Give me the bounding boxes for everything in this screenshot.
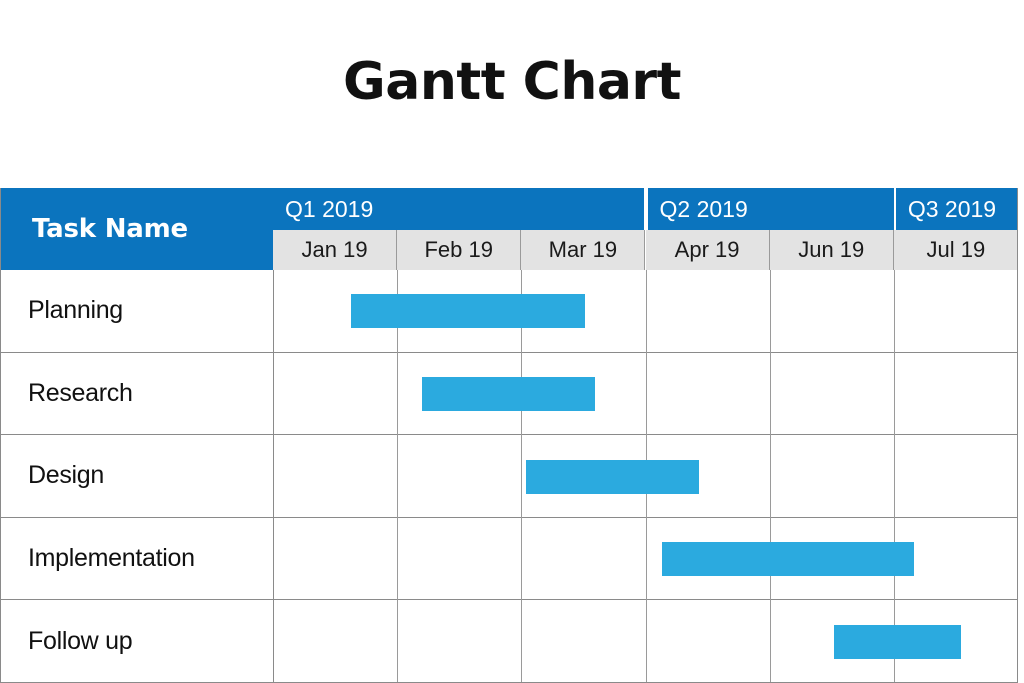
grid-line-vertical (521, 270, 522, 683)
table-row[interactable]: Design (0, 435, 1018, 518)
grid-line-vertical (273, 270, 274, 683)
task-label-design: Design (0, 435, 273, 517)
month-header-cell: Jan 19 (273, 230, 397, 270)
table-border-right (1017, 188, 1018, 683)
grid-line-vertical (397, 270, 398, 683)
quarter-header-label: Q1 2019 (285, 196, 373, 223)
table-header: Task Name Q1 2019Q2 2019Q3 2019 Jan 19Fe… (0, 188, 1018, 270)
gantt-bar-follow-up[interactable] (834, 625, 961, 659)
gantt-bar-implementation[interactable] (662, 542, 914, 576)
table-border-left (0, 188, 1, 683)
month-header-label: Jan 19 (302, 237, 368, 263)
month-header-cell: Apr 19 (646, 230, 770, 270)
quarter-header-2: Q2 2019 (648, 188, 894, 230)
task-name-column-header: Task Name (0, 188, 273, 270)
quarter-header-label: Q2 2019 (660, 196, 748, 223)
month-header-label: Apr 19 (675, 237, 740, 263)
gantt-chart-table: Task Name Q1 2019Q2 2019Q3 2019 Jan 19Fe… (0, 188, 1018, 683)
month-header-cell: Jul 19 (894, 230, 1018, 270)
gantt-bar-research[interactable] (422, 377, 595, 411)
month-header-label: Mar 19 (549, 237, 617, 263)
table-body: PlanningResearchDesignImplementationFoll… (0, 270, 1018, 683)
quarter-header-label: Q3 2019 (908, 196, 996, 223)
month-header-cell: Feb 19 (397, 230, 521, 270)
gantt-bar-planning[interactable] (351, 294, 584, 328)
quarter-header-1: Q1 2019 (273, 188, 644, 230)
task-label-follow-up: Follow up (0, 600, 273, 683)
month-header-label: Jul 19 (927, 237, 986, 263)
month-header-cell: Mar 19 (521, 230, 645, 270)
task-label-research: Research (0, 353, 273, 435)
gantt-bar-design[interactable] (526, 460, 699, 494)
month-header-cell: Jun 19 (770, 230, 894, 270)
task-label-implementation: Implementation (0, 518, 273, 600)
grid-line-vertical (770, 270, 771, 683)
page-title: Gantt Chart (0, 52, 1024, 112)
quarter-header-row: Q1 2019Q2 2019Q3 2019 (273, 188, 1018, 230)
month-header-row: Jan 19Feb 19Mar 19Apr 19Jun 19Jul 19 (273, 230, 1018, 270)
task-name-header-label: Task Name (32, 214, 188, 244)
grid-line-vertical (894, 270, 895, 683)
task-label-planning: Planning (0, 270, 273, 352)
month-header-label: Jun 19 (798, 237, 864, 263)
month-header-label: Feb 19 (424, 237, 493, 263)
quarter-header-3: Q3 2019 (896, 188, 1018, 230)
